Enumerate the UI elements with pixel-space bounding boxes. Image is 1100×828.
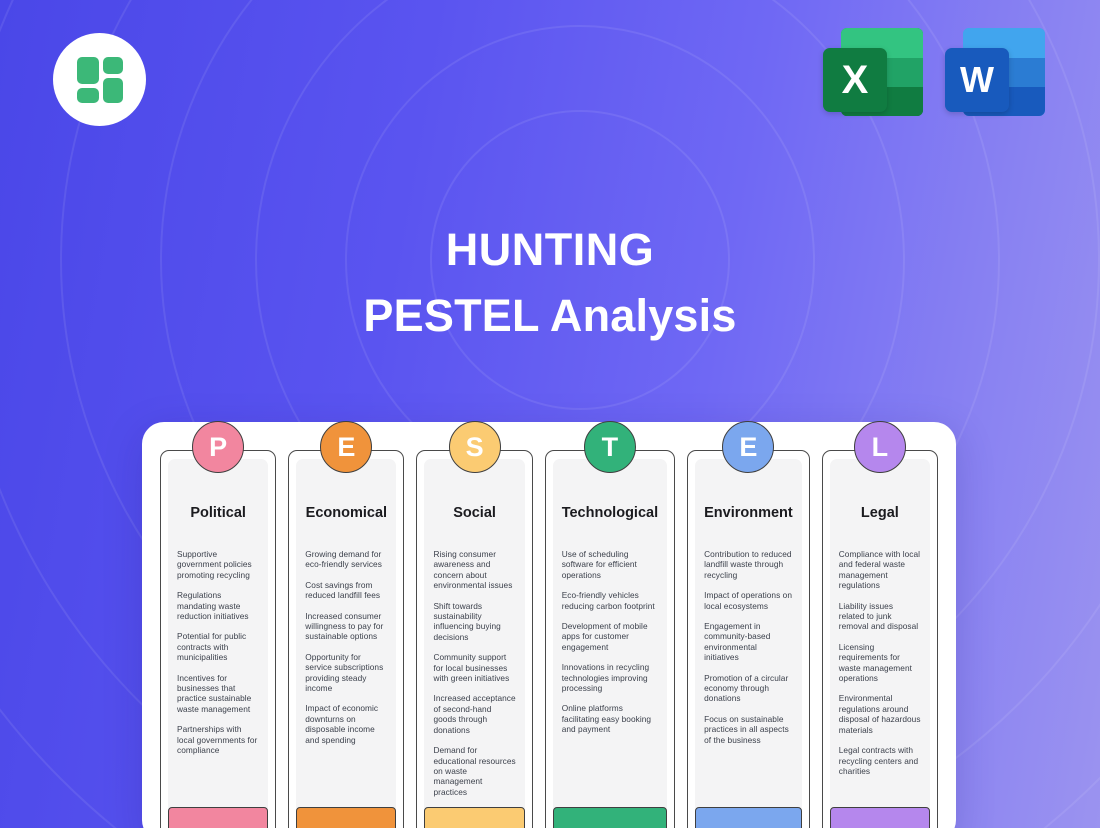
pestel-point: Focus on sustainable practices in all as… (704, 714, 793, 745)
pestel-card-heading: Technological (562, 505, 658, 521)
pestel-letter-badge: L (854, 421, 906, 473)
pestel-card-body: PoliticalSupportive government policies … (168, 459, 268, 828)
pestel-point: Incentives for businesses that practice … (177, 673, 259, 715)
pestel-point-list: Supportive government policies promoting… (177, 549, 259, 756)
pestel-card-body: SocialRising consumer awareness and conc… (424, 459, 524, 828)
pestel-point: Community support for local businesses w… (433, 652, 515, 683)
pestel-color-bar (168, 807, 268, 828)
pestel-card[interactable]: EEnvironmentContribution to reduced land… (687, 450, 810, 828)
pestel-point: Impact of operations on local ecosystems (704, 590, 793, 611)
pestel-card[interactable]: TTechnologicalUse of scheduling software… (545, 450, 675, 828)
pestel-color-bar (424, 807, 524, 828)
pestel-card-heading: Political (177, 505, 259, 521)
pestel-letter-badge: E (320, 421, 372, 473)
pestel-point: Use of scheduling software for efficient… (562, 549, 658, 580)
pestel-point: Impact of economic downturns on disposab… (305, 703, 387, 745)
pestel-card-body: EconomicalGrowing demand for eco-friendl… (296, 459, 396, 828)
pestel-card-heading: Environment (704, 505, 793, 521)
logo-tile-a (77, 57, 99, 84)
pestel-color-bar (296, 807, 396, 828)
pestel-letter-badge: P (192, 421, 244, 473)
brand-logo[interactable] (53, 33, 146, 126)
pestel-point: Demand for educational resources on wast… (433, 745, 515, 797)
pestel-letter-badge: E (722, 421, 774, 473)
pestel-point: Supportive government policies promoting… (177, 549, 259, 580)
logo-tile-b (103, 57, 123, 74)
pestel-point: Cost savings from reduced landfill fees (305, 580, 387, 601)
logo-tile-c (77, 88, 99, 103)
pestel-point: Regulations mandating waste reduction in… (177, 590, 259, 621)
word-letter: W (945, 48, 1009, 112)
pestel-card-body: TechnologicalUse of scheduling software … (553, 459, 667, 828)
pestel-point: Opportunity for service subscriptions pr… (305, 652, 387, 694)
pestel-color-bar (695, 807, 802, 828)
pestel-point: Eco-friendly vehicles reducing carbon fo… (562, 590, 658, 611)
pestel-point: Rising consumer awareness and concern ab… (433, 549, 515, 591)
logo-tile-d (103, 78, 123, 103)
pestel-card-row: PPoliticalSupportive government policies… (160, 450, 938, 828)
excel-letter: X (823, 48, 887, 112)
pestel-point: Innovations in recycling technologies im… (562, 662, 658, 693)
pestel-point: Promotion of a circular economy through … (704, 673, 793, 704)
pestel-point-list: Growing demand for eco-friendly services… (305, 549, 387, 745)
pestel-point: Licensing requirements for waste managem… (839, 642, 921, 684)
pestel-card[interactable]: SSocialRising consumer awareness and con… (416, 450, 532, 828)
pestel-card[interactable]: LLegalCompliance with local and federal … (822, 450, 938, 828)
pestel-card[interactable]: PPoliticalSupportive government policies… (160, 450, 276, 828)
pestel-card-body: EnvironmentContribution to reduced landf… (695, 459, 802, 828)
pestel-card-body: LegalCompliance with local and federal w… (830, 459, 930, 828)
pestel-letter-badge: S (449, 421, 501, 473)
pestel-point: Contribution to reduced landfill waste t… (704, 549, 793, 580)
pestel-point-list: Rising consumer awareness and concern ab… (433, 549, 515, 797)
title-subject: PESTEL Analysis (0, 290, 1100, 342)
pestel-panel: PPoliticalSupportive government policies… (142, 422, 956, 828)
pestel-point-list: Use of scheduling software for efficient… (562, 549, 658, 735)
pestel-color-bar (553, 807, 667, 828)
pestel-point: Liability issues related to junk removal… (839, 601, 921, 632)
pestel-point: Increased acceptance of second-hand good… (433, 693, 515, 735)
pestel-letter-badge: T (584, 421, 636, 473)
pestel-point: Growing demand for eco-friendly services (305, 549, 387, 570)
pestel-card-heading: Economical (305, 505, 387, 521)
pestel-card-heading: Social (433, 505, 515, 521)
excel-icon[interactable]: X (823, 28, 923, 121)
pestel-point: Compliance with local and federal waste … (839, 549, 921, 591)
poster-canvas: X W HUNTING PESTEL Analysis PPoliticalSu… (0, 0, 1100, 828)
pestel-point-list: Contribution to reduced landfill waste t… (704, 549, 793, 745)
pestel-point: Partnerships with local governments for … (177, 724, 259, 755)
pestel-point: Potential for public contracts with muni… (177, 631, 259, 662)
title-company: HUNTING (0, 224, 1100, 276)
pestel-card[interactable]: EEconomicalGrowing demand for eco-friend… (288, 450, 404, 828)
export-icon-group: X W (823, 28, 1045, 121)
pestel-point-list: Compliance with local and federal waste … (839, 549, 921, 776)
pestel-point: Engagement in community-based environmen… (704, 621, 793, 663)
pestel-point: Shift towards sustainability influencing… (433, 601, 515, 643)
pestel-color-bar (830, 807, 930, 828)
pestel-point: Environmental regulations around disposa… (839, 693, 921, 735)
word-icon[interactable]: W (945, 28, 1045, 121)
pestel-card-heading: Legal (839, 505, 921, 521)
grid-logo-icon (77, 57, 123, 103)
pestel-point: Increased consumer willingness to pay fo… (305, 611, 387, 642)
pestel-point: Legal contracts with recycling centers a… (839, 745, 921, 776)
page-title: HUNTING PESTEL Analysis (0, 224, 1100, 342)
pestel-point: Development of mobile apps for customer … (562, 621, 658, 652)
pestel-point: Online platforms facilitating easy booki… (562, 703, 658, 734)
